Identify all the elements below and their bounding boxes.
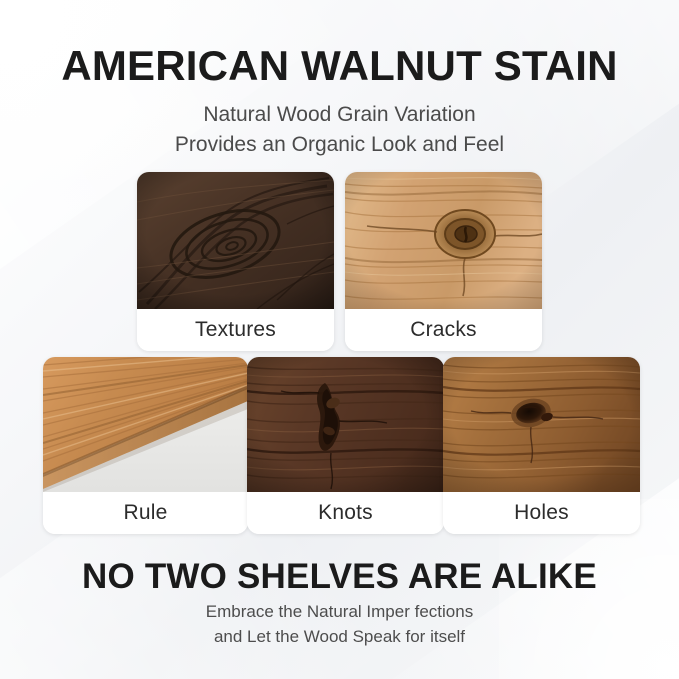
feature-card-label: Knots [247, 492, 444, 534]
feature-card-rule: Rule [43, 357, 248, 534]
walnut-board-with-hole-photo [443, 357, 640, 492]
feature-card-label: Rule [43, 492, 248, 534]
footer-subtitle: Embrace the Natural Imper fections and L… [0, 600, 679, 649]
feature-card-label: Holes [443, 492, 640, 534]
footer-subtitle-line-1: Embrace the Natural Imper fections [0, 600, 679, 625]
feature-card-textures: Textures [137, 172, 334, 351]
feature-card-label: Textures [137, 309, 334, 351]
dark-walnut-grain-texture-photo [137, 172, 334, 309]
feature-card-cracks: Cracks [345, 172, 542, 351]
feature-card-label: Cracks [345, 309, 542, 351]
wood-board-edge-on-white-photo [43, 357, 248, 492]
footer-title: NO TWO SHELVES ARE ALIKE [0, 557, 679, 597]
page-subtitle: Natural Wood Grain Variation Provides an… [0, 100, 679, 160]
feature-card-holes: Holes [443, 357, 640, 534]
feature-card-knots: Knots [247, 357, 444, 534]
poster-canvas: AMERICAN WALNUT STAIN Natural Wood Grain… [0, 0, 679, 679]
footer-subtitle-line-2: and Let the Wood Speak for itself [0, 625, 679, 650]
page-subtitle-line-1: Natural Wood Grain Variation [0, 100, 679, 130]
dark-walnut-knot-photo [247, 357, 444, 492]
light-wood-knot-crack-photo [345, 172, 542, 309]
page-subtitle-line-2: Provides an Organic Look and Feel [0, 130, 679, 160]
page-title: AMERICAN WALNUT STAIN [0, 44, 679, 88]
